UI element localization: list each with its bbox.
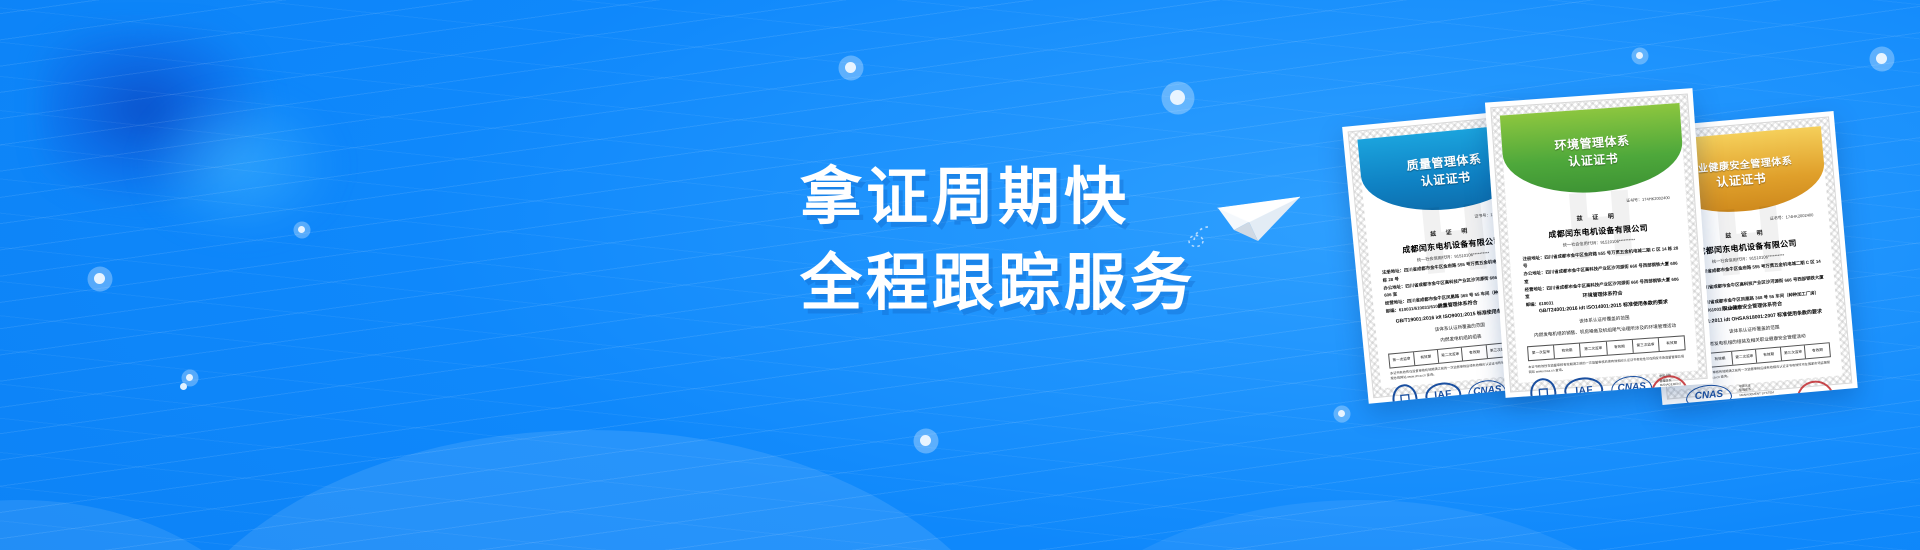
decorative-dot-2 xyxy=(1636,52,1643,59)
certificate-grid-cell: 第三次监审 xyxy=(1633,338,1660,353)
certificate-grid-cell: 有效期 xyxy=(1462,345,1488,360)
cnca-logo-icon: 囗 xyxy=(1529,378,1558,398)
cnas-caption-text: 中国认证 管理体系 MANAGEMENT SYSTEM CNAS C174-M xyxy=(1738,381,1774,402)
certificate-title-line-2: 认证证书 xyxy=(1715,169,1766,190)
certificate-grid-cell: 有效期 xyxy=(1659,336,1685,351)
certificate-grid-cell: 第一次监审 xyxy=(1528,345,1555,360)
certificate-serial: 证书号：174HK2002400 xyxy=(1626,195,1670,204)
certificate-title-line-2: 认证证书 xyxy=(1568,149,1619,169)
cnca-logo-icon: 囗 xyxy=(1391,383,1419,404)
certificate-grid-cell: 第二次监审 xyxy=(1732,350,1758,365)
iaf-logo-icon: IAF xyxy=(1564,376,1605,398)
decorative-dot-9 xyxy=(180,383,187,390)
certificate-inner: 环境管理体系认证证书H证书号：174HK2002400兹 证 明成都闰东电机设备… xyxy=(1500,103,1698,383)
headline-line-2: 全程跟踪服务 xyxy=(800,251,1196,315)
certificate-grid-cell: 有效期 xyxy=(1757,348,1783,363)
certificate-grid-cell: 第一次监审 xyxy=(1389,352,1415,367)
cnas-logo-icon: CNAS xyxy=(1611,375,1653,398)
certificate-card-environmental-management-certificate[interactable]: 环境管理体系认证证书H证书号：174HK2002400兹 证 明成都闰东电机设备… xyxy=(1485,88,1713,398)
certificate-stack: 质量管理体系认证证书H证书号：174HK2002400兹 证 明成都闰东电机设备… xyxy=(1355,95,1920,495)
decorative-dot-8 xyxy=(1338,410,1345,417)
decorative-dot-5 xyxy=(94,273,105,284)
decorative-dot-4 xyxy=(298,226,305,233)
certificate-grid-cell: 有效期 xyxy=(1554,343,1581,358)
decorative-dot-0 xyxy=(845,62,856,73)
headline-block: 拿证周期快 全程跟踪服务 xyxy=(800,165,1196,316)
paper-plane-icon xyxy=(1188,186,1306,248)
certificate-grid-cell: 第三次监审 xyxy=(1781,346,1807,361)
decorative-dot-1 xyxy=(1170,90,1185,105)
cnas-logo-icon: CNAS xyxy=(1685,382,1733,405)
decorative-dot-6 xyxy=(186,374,193,381)
iaf-logo-icon: IAF xyxy=(1424,380,1463,403)
cnas-logo-icon: CNAS xyxy=(1468,378,1508,404)
certificate-grid-cell: 第二次监审 xyxy=(1580,342,1607,357)
decorative-dot-3 xyxy=(1876,53,1887,64)
headline-line-1: 拿证周期快 xyxy=(800,165,1196,229)
decorative-dot-7 xyxy=(920,435,931,446)
certificate-grid-cell: 有效期 xyxy=(1805,344,1830,359)
certificate-grid-cell: 有效期 xyxy=(1414,350,1440,365)
promo-banner: 拿证周期快 全程跟踪服务 质量管理体系认证证书H证书号：174HK2002400… xyxy=(0,0,1920,550)
certificate-grid-cell: 有效期 xyxy=(1606,340,1633,355)
certificate-grid-cell: 第二次监审 xyxy=(1438,348,1464,363)
